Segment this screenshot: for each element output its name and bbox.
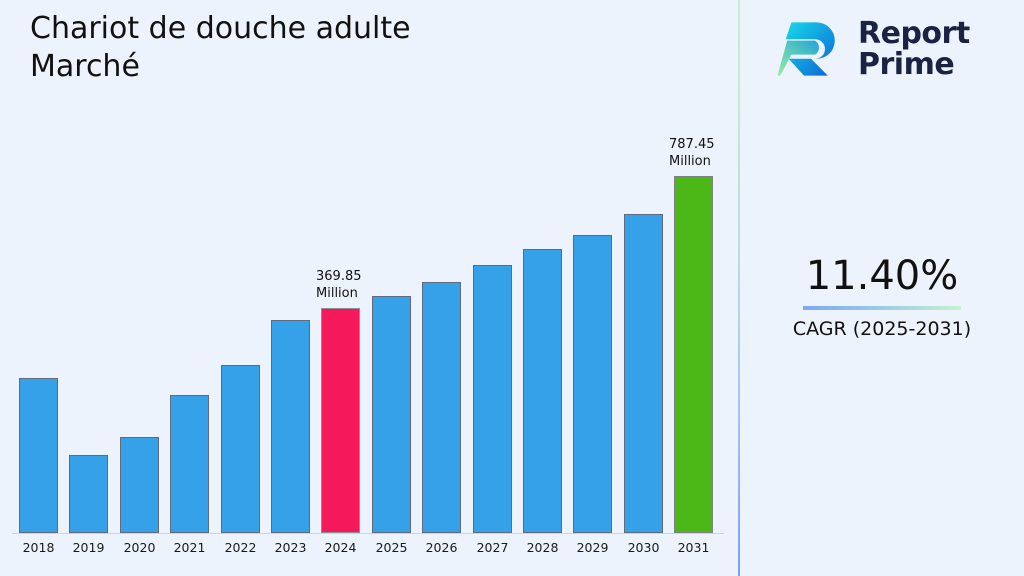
bar-2019[interactable] xyxy=(69,455,108,533)
cagr-block: 11.40% CAGR (2025-2031) xyxy=(740,252,1024,341)
bar-2029[interactable] xyxy=(573,235,612,533)
chart-page: Chariot de douche adulte Marché 369.85 M… xyxy=(0,0,1024,576)
bar-2023[interactable] xyxy=(271,320,310,533)
bar-2024[interactable] xyxy=(321,308,360,533)
logo-wordmark: Report Prime xyxy=(858,18,970,80)
cagr-value: 11.40% xyxy=(740,252,1024,300)
cagr-caption: CAGR (2025-2031) xyxy=(740,317,1024,341)
bar-value-label-2024: 369.85 Million xyxy=(316,268,362,302)
bar-chart-plot: 369.85 Million787.45 Million 20182019202… xyxy=(0,0,738,576)
bar-2025[interactable] xyxy=(372,296,411,533)
bar-2031[interactable] xyxy=(674,176,713,533)
bar-2021[interactable] xyxy=(170,395,209,533)
x-tick-2031: 2031 xyxy=(664,540,724,555)
report-prime-logo: Report Prime xyxy=(776,14,970,84)
bar-2018[interactable] xyxy=(19,378,58,533)
chart-panel: Chariot de douche adulte Marché 369.85 M… xyxy=(0,0,738,576)
report-prime-mark-icon xyxy=(776,14,846,84)
summary-panel: Report Prime 11.40% CAGR (2025-2031) xyxy=(740,0,1024,576)
cagr-divider-rule xyxy=(803,306,961,310)
bar-2030[interactable] xyxy=(624,214,663,533)
bar-value-label-2031: 787.45 Million xyxy=(669,136,715,170)
bar-2028[interactable] xyxy=(523,249,562,533)
bar-2027[interactable] xyxy=(473,265,512,533)
bar-2026[interactable] xyxy=(422,282,461,533)
x-axis-baseline xyxy=(12,533,724,534)
bar-2020[interactable] xyxy=(120,437,159,533)
bar-2022[interactable] xyxy=(221,365,260,533)
